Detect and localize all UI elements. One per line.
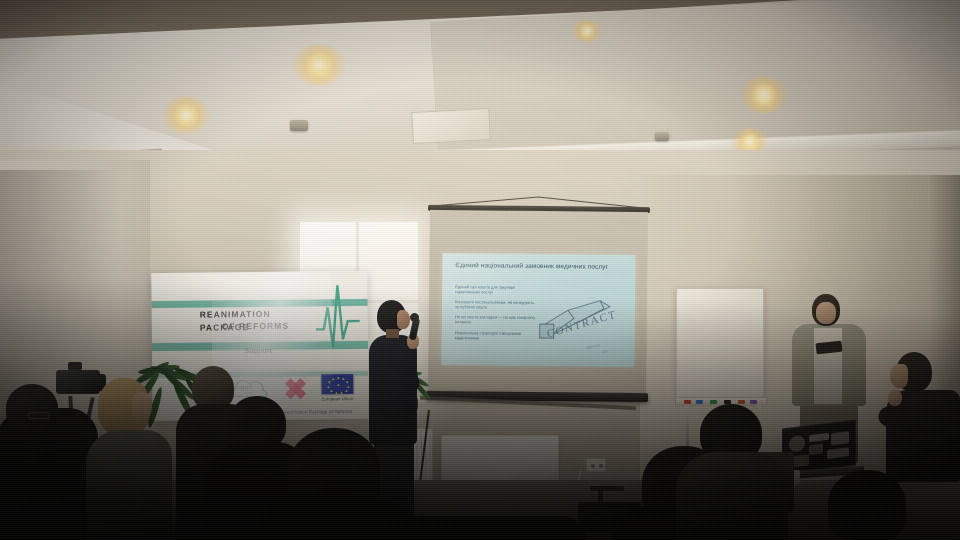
smoke-detector-icon [290,120,308,131]
eyeglasses-icon [28,412,50,419]
screen-canvas: Єдиний національний замовник медичних по… [428,210,648,396]
camera-handle [68,362,82,370]
audience-front-row-4-body [676,452,788,540]
marker-icon [750,400,757,404]
sticker-icon [809,433,829,442]
audience-blonde-woman-body [86,430,172,540]
sticker-icon [789,435,805,453]
sticker-icon [831,431,849,445]
seated-man-right [886,352,960,482]
marker-icon [710,400,717,404]
marker-icon [696,400,703,404]
audience-older-man-face [222,378,240,402]
whiteboard [676,288,764,398]
audience-front-row-2-body [258,494,410,540]
seated-man-face [890,364,908,388]
whiteboard-leg [686,405,689,449]
banner-title-line2: OF REFORMS [222,320,342,331]
pull-down-projection-screen: Єдиний національний замовник медичних по… [426,195,650,415]
marker-icon [738,400,745,404]
ceiling-spotlight-icon [572,20,602,42]
standing-man-face [816,302,836,324]
european-union-logo: European Union [320,373,358,405]
banner-partner-note: Reanimation Package of Reforms [281,409,353,415]
power-outlet-icon [586,458,606,472]
microphone-head-icon [410,313,419,322]
ceiling-spotlight-icon [162,96,210,134]
banner-support-label: Support [244,346,272,355]
sticker-icon [809,444,823,456]
projected-presentation-slide: Єдиний національний замовник медичних по… [441,253,635,367]
slide-bullet-list: Єдиний пул коштів для закупівлі гарантов… [455,284,540,346]
eu-logo-label: European Union [322,396,354,401]
sticker-icon [827,447,849,459]
seated-man-hand [888,390,902,406]
speaker-face [397,310,410,329]
slide-contract-artwork: CONTRACT signature date [537,296,633,363]
smoke-detector-icon [655,132,669,141]
speaker-neck [386,329,399,338]
audience-blonde-woman-face [132,392,152,420]
slide-bullet: Національна структура з місцевими відділ… [455,330,539,341]
slide-title: Єдиний національний замовник медичних по… [455,261,615,272]
eu-flag-icon [320,373,354,395]
standing-man-shirt [814,328,842,404]
slide-bullet: Контракти постачальникам, які конкурують… [455,299,539,310]
ceiling-spotlight-icon [740,76,788,114]
cross-diamond-icon [282,375,308,401]
ceiling-spotlight-icon [292,44,346,86]
marker-icon [684,400,691,404]
slide-bullet: Єдиний пул коштів для закупівлі гарантов… [455,284,539,295]
ceiling-access-panel [411,108,491,144]
audience-camera-operator-head [6,384,58,432]
audience-front-row-5-head [828,470,906,540]
cross-logo [282,375,308,401]
conference-room-photo: REANIMATION PACKAGE OF REFORMS Support U… [0,0,960,540]
slide-bullet: Не всі кошти закладам — не має конфлікту… [455,315,539,326]
projector-head [590,486,624,491]
audience-front-row-6-body [396,516,586,540]
